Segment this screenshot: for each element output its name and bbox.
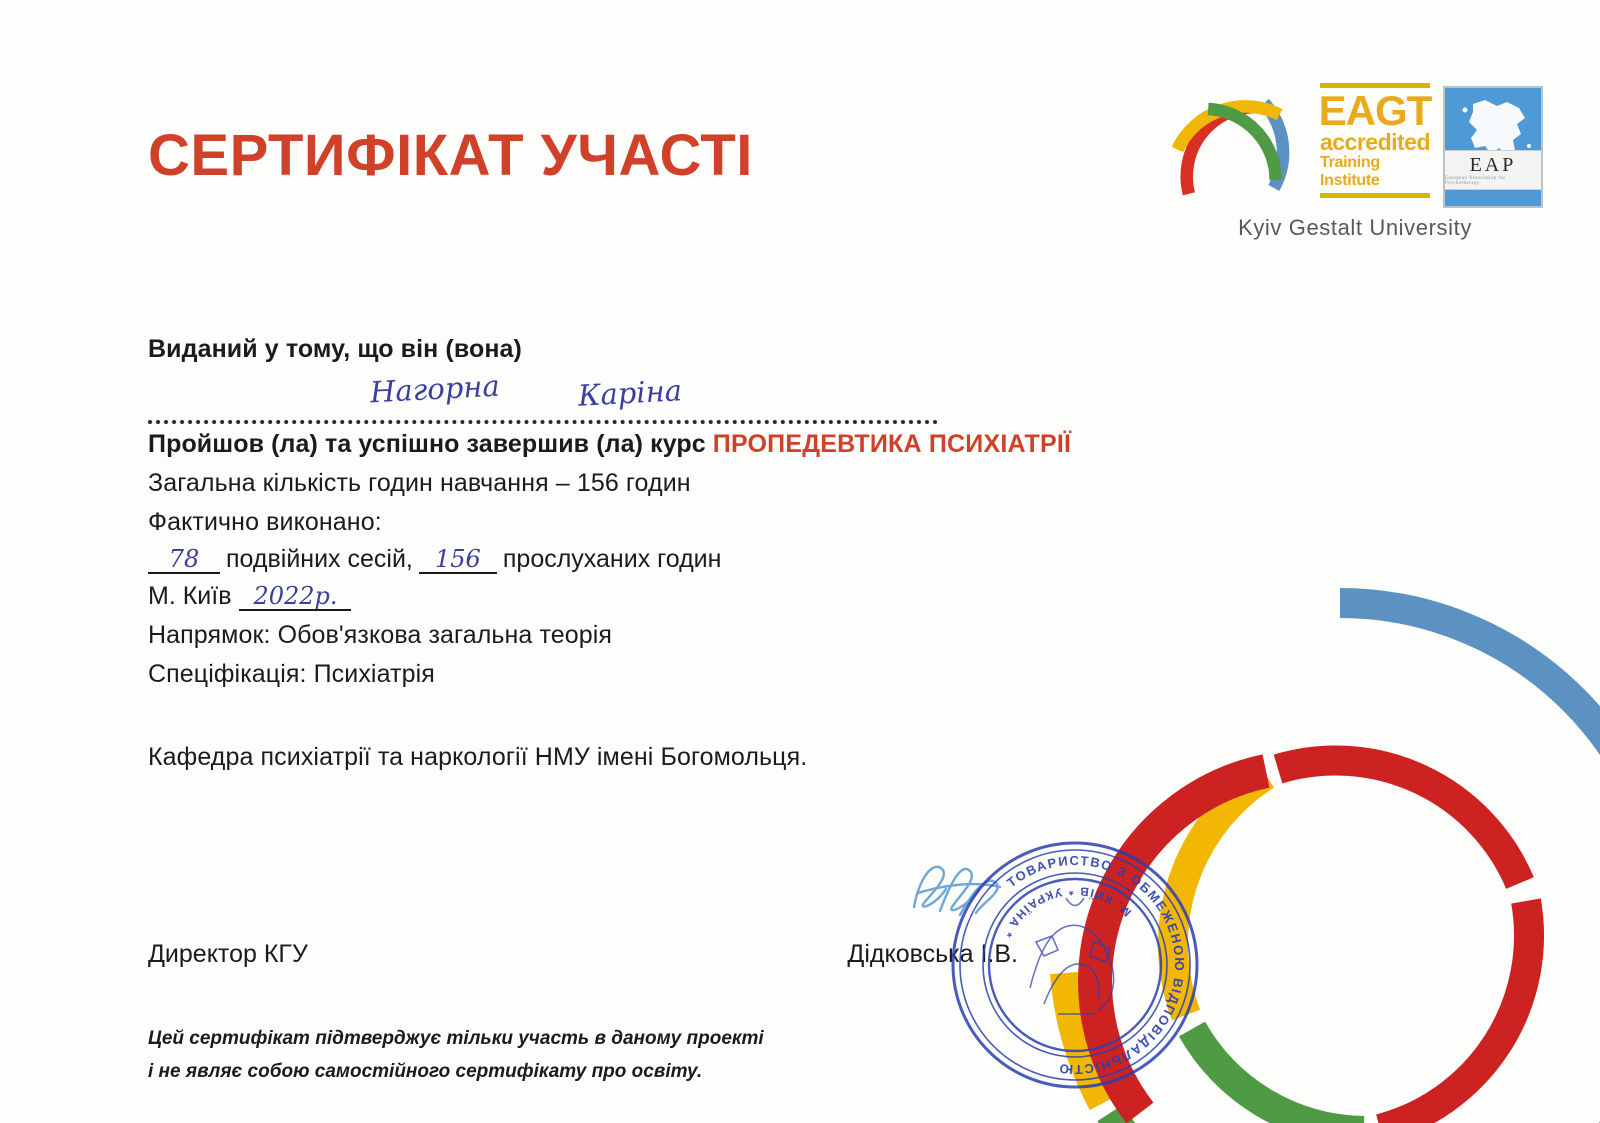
course-completion-prefix: Пройшов (ла) та успішно завершив (ла) ку… bbox=[148, 430, 713, 458]
course-name: ПРОПЕДЕВТИКА ПСИХІАТРІЇ bbox=[713, 430, 1071, 458]
course-completion-line: Пройшов (ла) та успішно завершив (ла) ку… bbox=[148, 430, 1148, 459]
certificate-body: Виданий у тому, що він (вона) Нагорна Ка… bbox=[148, 335, 1148, 772]
sessions-count-value: 78 bbox=[148, 547, 220, 574]
svg-text:ТОВАРИСТВО З ОБМЕЖЕНОЮ ВІДПОВІ: ТОВАРИСТВО З ОБМЕЖЕНОЮ ВІДПОВІДАЛЬНІСТЮ bbox=[1004, 853, 1187, 1077]
recipient-surname-handwritten: Нагорна bbox=[369, 369, 500, 410]
signature-row: Директор КГУ Дідковська І.В. bbox=[148, 940, 1018, 969]
footer-disclaimer: Цей сертифікат підтверджує тільки участь… bbox=[148, 1022, 764, 1089]
signatory-name: Дідковська І.В. bbox=[847, 940, 1018, 969]
specification-line: Спеціфікація: Психіатрія bbox=[148, 660, 1148, 689]
hours-count-label: прослуханих годин bbox=[503, 545, 722, 574]
eap-logo: EAP European Association for Psychothera… bbox=[1443, 86, 1543, 208]
certificate-page: EAGT accredited Training Institute EAP E… bbox=[0, 0, 1600, 1123]
eagt-bottom-rule bbox=[1320, 193, 1430, 198]
eagt-training-institute-label: Training Institute bbox=[1320, 154, 1430, 189]
kyiv-gestalt-university-logo-icon bbox=[1160, 80, 1295, 215]
recipient-name-row: Нагорна Каріна bbox=[148, 368, 1148, 430]
year-value: 2022р. bbox=[239, 584, 351, 611]
eap-banner: EAP European Association for Psychothera… bbox=[1445, 150, 1541, 190]
eagt-main-label: EAGT bbox=[1319, 91, 1432, 131]
recipient-name-dotted-rule bbox=[148, 420, 938, 424]
recipient-given-name-handwritten: Каріна bbox=[577, 373, 683, 412]
eap-tagline-label: European Association for Psychotherapy bbox=[1445, 176, 1541, 186]
city-year-row: М. Київ 2022р. bbox=[148, 582, 1148, 611]
sessions-count-label: подвійних сесій, bbox=[226, 545, 413, 574]
hours-count-value: 156 bbox=[419, 547, 497, 574]
sessions-hours-row: 78 подвійних сесій, 156 прослуханих годи… bbox=[148, 545, 1148, 574]
direction-line: Напрямок: Обов'язкова загальна теорія bbox=[148, 621, 1148, 650]
eagt-accredited-label: accredited bbox=[1320, 131, 1430, 154]
issued-to-label: Виданий у тому, що він (вона) bbox=[148, 335, 1148, 364]
total-hours-line: Загальна кількість годин навчання – 156 … bbox=[148, 469, 1148, 498]
page-title: СЕРТИФІКАТ УЧАСТІ bbox=[148, 122, 753, 189]
ink-signature-mark bbox=[900, 845, 1040, 935]
city-label: М. Київ bbox=[148, 582, 231, 611]
organization-caption: Kyiv Gestalt University bbox=[1155, 215, 1555, 241]
footer-disclaimer-line-1: Цей сертифікат підтверджує тільки участь… bbox=[148, 1022, 764, 1055]
department-line: Кафедра психіатрії та наркології НМУ іме… bbox=[148, 743, 1148, 772]
svg-text:М. КИЇВ * УКРАЇНА *: М. КИЇВ * УКРАЇНА * bbox=[1000, 884, 1135, 941]
footer-disclaimer-line-2: і не являє собою самостійного сертифікат… bbox=[148, 1055, 764, 1088]
eagt-accreditation-badge: EAGT accredited Training Institute bbox=[1320, 78, 1430, 203]
actually-completed-label: Фактично виконано: bbox=[148, 508, 1148, 537]
header-logo-block: EAGT accredited Training Institute EAP E… bbox=[1155, 60, 1555, 260]
signatory-role: Директор КГУ bbox=[148, 940, 308, 969]
eap-word-label: EAP bbox=[1470, 155, 1517, 175]
